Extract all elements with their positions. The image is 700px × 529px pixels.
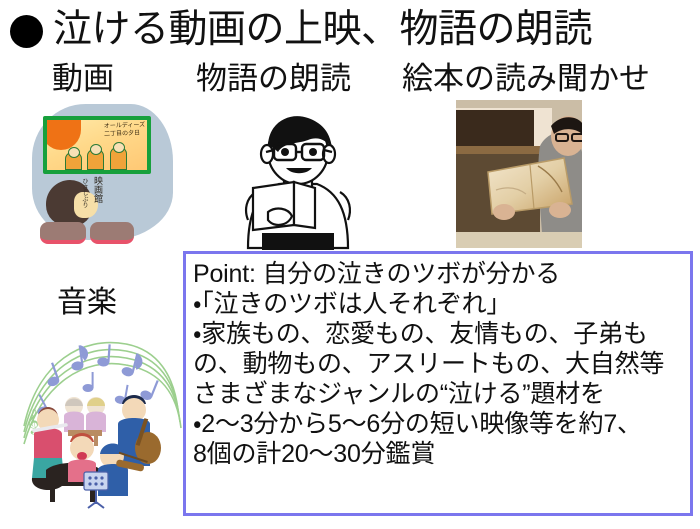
point-line: ・2～3分から5～6分の短い映像等を約7、: [193, 409, 684, 439]
reader-base-shadow: [262, 233, 334, 250]
photo-man-showing-picture-book: [456, 100, 582, 248]
person-reading-book-illustration: [222, 100, 372, 250]
screen-character: [65, 152, 82, 170]
screen-character-head: [90, 144, 102, 155]
photo-dark-panel: [456, 110, 534, 148]
movie-screen-title-line2: 二丁目の夕日: [104, 129, 146, 138]
reader-svg: [222, 100, 372, 250]
slide-root: 泣ける動画の上映、物語の朗読 動画 物語の朗読 絵本の読み聞かせ 音楽 オールデ…: [0, 0, 700, 529]
screen-character: [110, 147, 127, 170]
point-line: の、動物もの、アスリートもの、大自然等: [193, 349, 684, 379]
screen-character-head: [68, 147, 80, 158]
filled-circle-icon: [10, 15, 43, 48]
point-line: 8個の計20～30分鑑賞: [193, 439, 684, 469]
movie-caption-vertical: 映画館: [92, 176, 103, 203]
music-ensemble-illustration: 𝄞: [22, 330, 182, 510]
photo-ledge: [456, 146, 548, 154]
point-line: さまざまなジャンルの“泣ける”題材を: [193, 379, 684, 409]
page-title: 泣ける動画の上映、物語の朗読: [53, 8, 592, 52]
photo-hand-left: [493, 204, 515, 220]
label-story-reading: 物語の朗読: [196, 62, 351, 96]
music-svg: 𝄞: [22, 330, 182, 510]
movie-screen-frame: オールディーズ 二丁目の夕日: [43, 116, 151, 174]
point-text-box: Point: 自分の泣きのツボが分かる ・「泣きのツボは人それぞれ」 ・家族もの…: [183, 251, 693, 516]
point-line: Point: 自分の泣きのツボが分かる: [193, 259, 684, 289]
movie-caption-vertical-small: ひさしぶり: [80, 178, 87, 208]
photo-svg: [456, 100, 582, 248]
photo-hand-right: [549, 202, 571, 218]
label-music: 音楽: [57, 286, 117, 320]
screen-character: [87, 149, 104, 170]
viewer-seat-right: [90, 222, 134, 244]
reader-eye-left: [281, 148, 289, 156]
reader-hand: [268, 209, 292, 225]
viewer-seat-left: [40, 222, 86, 244]
point-line: ・家族もの、恋愛もの、友情もの、子弟も: [193, 319, 684, 349]
movie-theater-illustration: オールディーズ 二丁目の夕日 映画館 ひさしぶり: [32, 104, 177, 249]
photo-table: [456, 232, 582, 248]
point-line: ・「泣きのツボは人それぞれ」: [193, 289, 684, 319]
label-picture-book: 絵本の読み聞かせ: [402, 62, 650, 96]
slide-title-row: 泣ける動画の上映、物語の朗読: [10, 6, 690, 54]
movie-screen-characters: [65, 148, 135, 170]
screen-character-head: [113, 142, 125, 153]
sun-shape-icon: [47, 120, 81, 150]
music-stand-icon: [84, 472, 108, 508]
label-video: 動画: [52, 62, 114, 96]
movie-screen-inner: オールディーズ 二丁目の夕日: [47, 120, 147, 170]
reader-eye-right: [309, 148, 317, 156]
movie-screen-title-text: オールディーズ 二丁目の夕日: [103, 121, 145, 138]
